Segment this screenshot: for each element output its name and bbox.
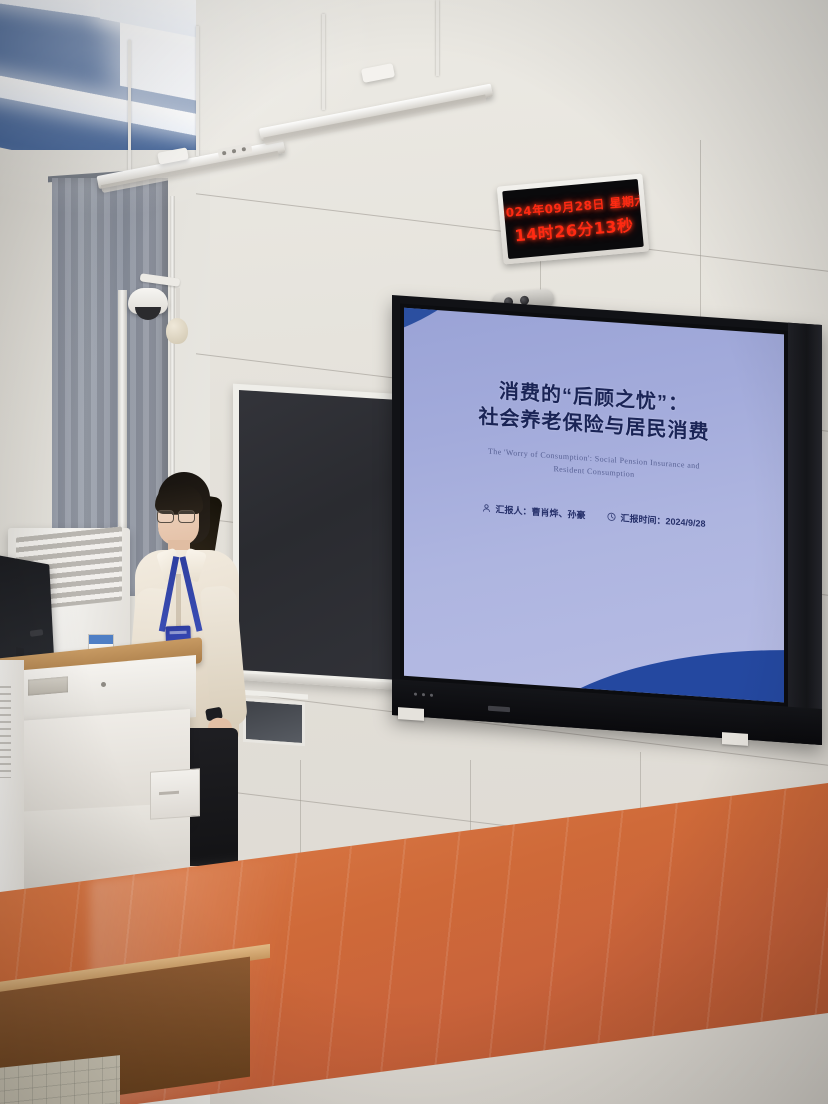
- display-brand-logo: [488, 706, 510, 713]
- slide-date-text: 汇报时间：2024/9/28: [620, 511, 705, 530]
- lectern-monitor[interactable]: [0, 554, 55, 669]
- interactive-flat-panel[interactable]: 消费的“后顾之忧”： 社会养老保险与居民消费 The 'Worry of Con…: [392, 295, 822, 745]
- classroom-scene: 2024年09月28日 星期六 14时26分13秒 消费的“后顾之忧”： 社会养…: [0, 0, 828, 1104]
- display-wall-mount-tab: [722, 732, 748, 746]
- wall-service-panel: [243, 698, 305, 746]
- wall-seam: [700, 140, 701, 320]
- led-wall-clock: 2024年09月28日 星期六 14时26分13秒: [497, 174, 649, 265]
- display-wall-mount-tab: [398, 707, 424, 721]
- light-drop-rod: [322, 14, 325, 110]
- light-drop-rod: [436, 0, 439, 76]
- blackboard: [233, 384, 405, 691]
- hanging-cable: [176, 288, 180, 320]
- light-drop-rod: [196, 26, 199, 156]
- blackboard-surface: [239, 390, 401, 680]
- slide-content: 消费的“后顾之忧”： 社会养老保险与居民消费 The 'Worry of Con…: [404, 372, 784, 536]
- display-indicator-lights: [414, 693, 433, 697]
- display-side-edge: [788, 323, 822, 745]
- podium-knob: [101, 682, 106, 687]
- light-drop-rod: [128, 40, 131, 170]
- person-icon: [482, 503, 491, 513]
- podium-drawer[interactable]: [150, 768, 200, 819]
- led-clock-screen: 2024年09月28日 星期六 14时26分13秒: [502, 179, 644, 259]
- slide-date: 汇报时间：2024/9/28: [607, 510, 705, 530]
- slide-meta-row: 汇报人：曹肖烨、孙豪 汇报时间：2024/9/28: [404, 496, 784, 536]
- presentation-slide: 消费的“后顾之忧”： 社会养老保险与居民消费 The 'Worry of Con…: [404, 308, 784, 703]
- display-bezel: 消费的“后顾之忧”： 社会养老保险与居民消费 The 'Worry of Con…: [400, 304, 788, 707]
- dome-security-camera-icon: [128, 288, 168, 314]
- clock-icon: [607, 512, 616, 522]
- hanging-fixture: [166, 318, 188, 344]
- slide-decoration-arc: [404, 308, 514, 362]
- podium-lectern-side-panel: [0, 660, 24, 910]
- glasses-icon: [157, 510, 197, 521]
- slide-presenter: 汇报人：曹肖烨、孙豪: [482, 501, 585, 521]
- slide-presenter-text: 汇报人：曹肖烨、孙豪: [495, 502, 585, 521]
